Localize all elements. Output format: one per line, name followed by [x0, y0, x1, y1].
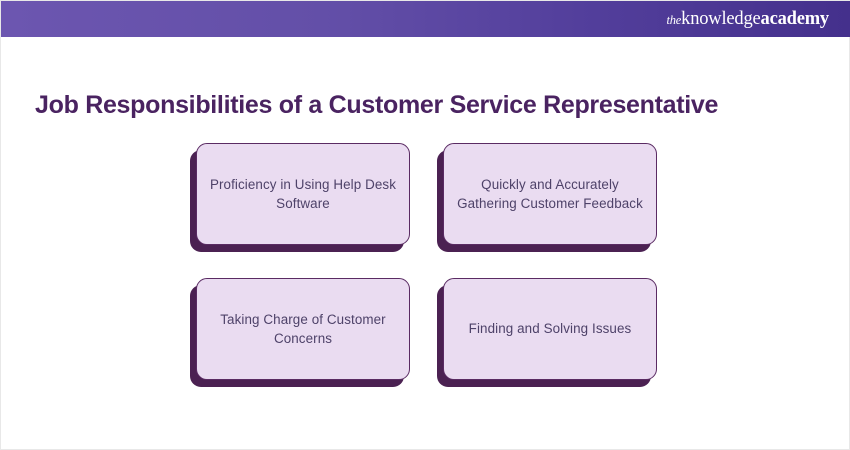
card-container-1: Proficiency in Using Help Desk Software: [190, 143, 411, 252]
page-title: Job Responsibilities of a Customer Servi…: [35, 90, 825, 120]
header-bar: the knowledge academy: [1, 1, 850, 37]
responsibility-card-1[interactable]: Proficiency in Using Help Desk Software: [196, 143, 410, 245]
card-container-3: Taking Charge of Customer Concerns: [190, 278, 411, 387]
brand-word-academy: academy: [761, 10, 829, 29]
brand-prefix-text: the: [666, 14, 681, 27]
responsibility-card-grid: Proficiency in Using Help Desk Software …: [190, 143, 665, 393]
card-label-2: Quickly and Accurately Gathering Custome…: [456, 175, 644, 213]
card-label-3: Taking Charge of Customer Concerns: [209, 310, 397, 348]
brand-logo: the knowledge academy: [666, 10, 829, 29]
card-label-4: Finding and Solving Issues: [469, 319, 632, 338]
card-container-2: Quickly and Accurately Gathering Custome…: [437, 143, 658, 252]
card-label-1: Proficiency in Using Help Desk Software: [209, 175, 397, 213]
responsibility-card-3[interactable]: Taking Charge of Customer Concerns: [196, 278, 410, 380]
brand-word-knowledge: knowledge: [681, 10, 760, 29]
card-container-4: Finding and Solving Issues: [437, 278, 658, 387]
responsibility-card-4[interactable]: Finding and Solving Issues: [443, 278, 657, 380]
responsibility-card-2[interactable]: Quickly and Accurately Gathering Custome…: [443, 143, 657, 245]
infographic-page: { "header": { "brand": { "prefix": "the"…: [0, 0, 850, 450]
